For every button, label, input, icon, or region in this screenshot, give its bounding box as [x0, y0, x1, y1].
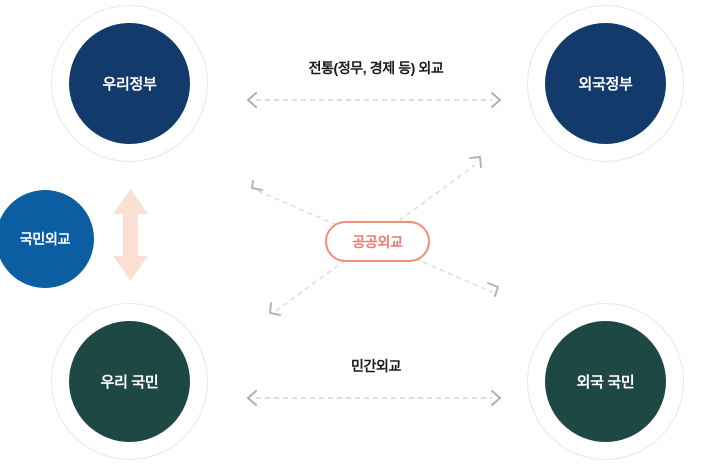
edge-label-traditional-diplomacy: 전통(정무, 경제 등) 외교: [236, 58, 516, 78]
center-node-public-diplomacy[interactable]: 공공외교: [325, 221, 430, 262]
center-node-label: 공공외교: [352, 232, 402, 252]
public-diplomacy-diagram: lower-right ---- --> upper-right ---- --…: [0, 0, 702, 469]
edge-label-private-diplomacy: 민간외교: [236, 356, 516, 376]
edge-label-private-diplomacy-text: 민간외교: [351, 358, 401, 374]
edge-label-traditional-diplomacy-text: 전통(정무, 경제 등) 외교: [309, 60, 444, 76]
